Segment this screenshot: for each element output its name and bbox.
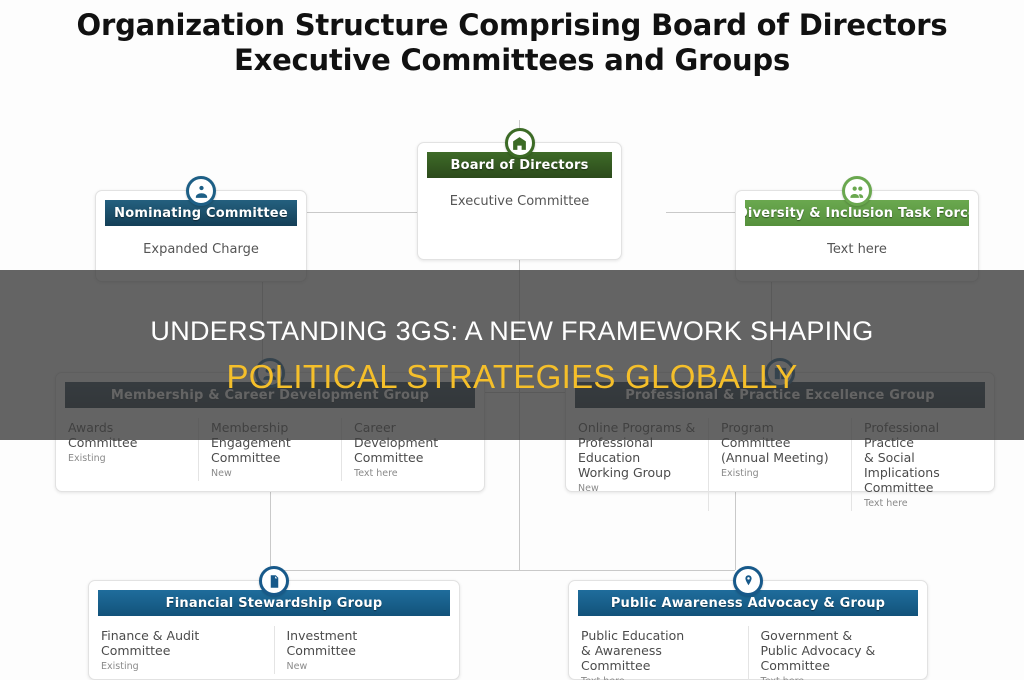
node-board-of-directors[interactable]: Board of Directors Executive Committee: [417, 142, 622, 260]
connector-bottom-horizontal-right: [519, 570, 735, 571]
list-item[interactable]: Public Education & Awareness Committee T…: [569, 626, 749, 680]
column-status: Text here: [354, 468, 474, 479]
handshake-badge-icon: [186, 176, 216, 206]
financial-group-columns: Finance & Audit Committee Existing Inves…: [89, 616, 459, 680]
org-chart-image: Organization Structure Comprising Board …: [0, 0, 1024, 680]
node-diversity-inclusion-task-force[interactable]: Diversity & Inclusion Task Force Text he…: [735, 190, 979, 282]
column-status: New: [287, 661, 450, 672]
list-item[interactable]: Government & Public Advocacy & Committee…: [749, 626, 928, 680]
node-nominating-body: Expanded Charge: [96, 226, 306, 269]
list-item[interactable]: Finance & Audit Committee Existing: [89, 626, 275, 674]
list-item[interactable]: Investment Committee New: [275, 626, 460, 674]
node-board-body: Executive Committee: [418, 178, 621, 221]
connector-bottom-horizontal: [270, 570, 519, 571]
column-status: Text here: [581, 676, 738, 680]
node-nominating-committee[interactable]: Nominating Committee Expanded Charge: [95, 190, 307, 282]
column-title: Public Education & Awareness Committee: [581, 628, 738, 673]
column-status: Existing: [101, 661, 264, 672]
node-public-awareness-advocacy-group[interactable]: Public Awareness Advocacy & Group Public…: [568, 580, 928, 680]
people-badge-icon: [842, 176, 872, 206]
title-overlay-banner: UNDERSTANDING 3GS: A NEW FRAMEWORK SHAPI…: [0, 270, 1024, 440]
public-group-columns: Public Education & Awareness Committee T…: [569, 616, 927, 680]
chart-title: Organization Structure Comprising Board …: [0, 8, 1024, 78]
overlay-headline-line1: UNDERSTANDING 3GS: A NEW FRAMEWORK SHAPI…: [150, 314, 873, 348]
node-financial-stewardship-group[interactable]: Financial Stewardship Group Finance & Au…: [88, 580, 460, 680]
column-title: Investment Committee: [287, 628, 450, 658]
megaphone-badge-icon: [733, 566, 763, 596]
overlay-headline-line2: POLITICAL STRATEGIES GLOBALLY: [226, 358, 797, 396]
node-diversity-body: Text here: [736, 226, 978, 269]
building-badge-icon: [505, 128, 535, 158]
column-status: Existing: [721, 468, 841, 479]
column-status: New: [211, 468, 331, 479]
column-status: Text here: [864, 498, 984, 509]
column-status: New: [578, 483, 698, 494]
column-title: Government & Public Advocacy & Committee: [761, 628, 918, 673]
column-title: Finance & Audit Committee: [101, 628, 264, 658]
document-badge-icon: [259, 566, 289, 596]
column-status: Existing: [68, 453, 188, 464]
column-status: Text here: [761, 676, 918, 680]
